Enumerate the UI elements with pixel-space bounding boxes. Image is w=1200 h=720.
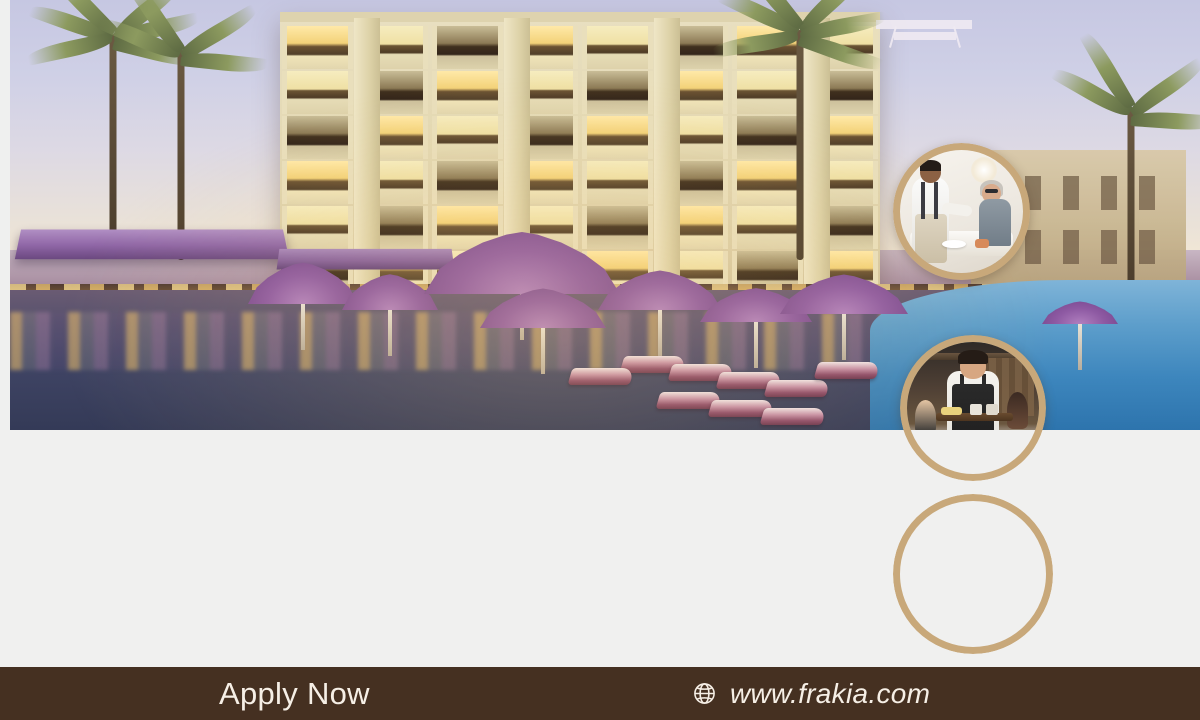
pool-umbrella [1042,300,1118,324]
pool-lounger [760,408,827,425]
job-poster: Facilities Front Desk Agent Security Off… [0,0,1200,720]
pool-umbrella [480,286,606,328]
pool-umbrella [780,272,908,314]
hotel-bedroom-photo [893,494,1053,654]
website-link[interactable]: www.frakia.com [692,678,930,710]
footer-bar: Apply Now www.frakia.com [0,667,1200,720]
pool-umbrella [424,228,620,294]
pool-lounger [764,380,831,397]
poolside-cabana [15,229,289,259]
palm-tree [1046,70,1200,290]
photo-ring [900,335,1046,481]
waiter-serving-guest-photo [893,143,1030,280]
photo-ring [893,494,1053,654]
website-url: www.frakia.com [730,678,930,710]
pool-lounger [814,362,881,379]
photo-ring [893,143,1030,280]
apply-now-label[interactable]: Apply Now [219,676,370,712]
palm-tree [106,20,256,260]
waiter-with-tray-photo [900,335,1046,481]
palm-tree [700,0,900,260]
pool-lounger [568,368,635,385]
globe-icon [692,681,717,706]
